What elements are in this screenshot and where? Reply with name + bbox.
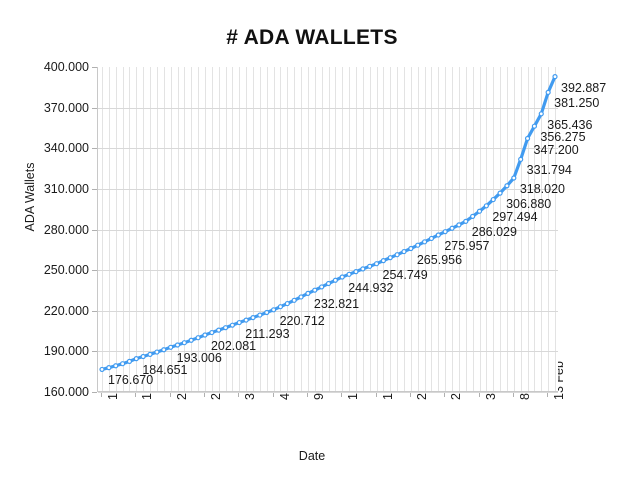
y-tick-mark (92, 392, 97, 393)
data-point-marker (155, 350, 159, 354)
data-point-label: 381.250 (554, 96, 599, 110)
data-point-marker (251, 316, 255, 320)
y-tick-label: 160.000 (21, 385, 89, 399)
data-point-marker (320, 285, 324, 289)
data-point-label: 244.932 (348, 281, 393, 295)
data-point-label: 220.712 (280, 314, 325, 328)
y-tick-label: 340.000 (21, 141, 89, 155)
data-point-marker (354, 270, 358, 274)
data-point-marker (107, 366, 111, 370)
data-point-label: 306.880 (506, 197, 551, 211)
data-point-marker (361, 267, 365, 271)
data-point-marker (327, 282, 331, 286)
y-tick-label: 280.000 (21, 223, 89, 237)
data-point-marker (526, 137, 530, 141)
data-point-marker (244, 318, 248, 322)
data-point-marker (272, 308, 276, 312)
data-point-marker (395, 253, 399, 257)
data-point-marker (539, 112, 543, 116)
data-point-marker (100, 367, 104, 371)
data-point-marker (416, 243, 420, 247)
data-point-marker (546, 90, 550, 94)
data-point-marker (368, 264, 372, 268)
data-point-marker (292, 298, 296, 302)
data-point-label: 254.749 (383, 268, 428, 282)
x-axis-title: Date (0, 449, 624, 463)
data-point-label: 265.956 (417, 253, 462, 267)
data-point-marker (478, 209, 482, 213)
y-tick-label: 250.000 (21, 263, 89, 277)
x-tick-mark (547, 392, 548, 397)
x-tick-mark (410, 392, 411, 397)
data-point-label: 232.821 (314, 297, 359, 311)
data-point-marker (189, 338, 193, 342)
data-point-marker (484, 204, 488, 208)
data-point-marker (313, 288, 317, 292)
data-point-marker (436, 233, 440, 237)
data-point-marker (217, 328, 221, 332)
data-point-marker (498, 191, 502, 195)
data-point-marker (278, 305, 282, 309)
data-point-label: 286.029 (472, 225, 517, 239)
data-point-marker (340, 275, 344, 279)
data-point-marker (306, 291, 310, 295)
ada-wallets-chart: # ADA WALLETS ADA Wallets 400.000370.000… (0, 0, 624, 477)
x-tick-mark (444, 392, 445, 397)
x-tick-mark (479, 392, 480, 397)
y-tick-label: 190.000 (21, 344, 89, 358)
data-point-marker (505, 184, 509, 188)
data-point-label: 211.293 (245, 327, 289, 341)
data-point-marker (141, 355, 145, 359)
data-point-marker (375, 262, 379, 266)
data-point-marker (532, 124, 536, 128)
data-point-label: 193.006 (177, 351, 222, 365)
data-point-label: 365.436 (547, 118, 592, 132)
data-point-marker (333, 278, 337, 282)
data-point-marker (121, 362, 125, 366)
data-point-marker (491, 198, 495, 202)
data-point-marker (423, 240, 427, 244)
data-point-marker (134, 357, 138, 361)
data-point-marker (464, 219, 468, 223)
data-point-marker (258, 313, 262, 317)
data-point-marker (114, 364, 118, 368)
x-tick-mark (204, 392, 205, 397)
data-point-marker (429, 236, 433, 240)
data-point-marker (148, 352, 152, 356)
x-tick-mark (341, 392, 342, 397)
data-point-marker (182, 341, 186, 345)
x-tick-mark (101, 392, 102, 397)
data-point-marker (381, 259, 385, 263)
x-tick-mark (170, 392, 171, 397)
x-tick-mark (238, 392, 239, 397)
data-point-marker (210, 331, 214, 335)
data-point-label: 331.794 (527, 163, 572, 177)
data-point-marker (237, 321, 241, 325)
data-point-marker (230, 323, 234, 327)
data-point-marker (388, 256, 392, 260)
data-point-marker (299, 295, 303, 299)
data-point-marker (471, 214, 475, 218)
data-point-label: 275.957 (444, 239, 489, 253)
data-point-label: 356.275 (540, 130, 585, 144)
y-tick-label: 370.000 (21, 101, 89, 115)
data-point-marker (127, 359, 131, 363)
data-point-marker (176, 343, 180, 347)
data-point-marker (347, 272, 351, 276)
x-tick-mark (513, 392, 514, 397)
series-line (102, 77, 555, 370)
data-point-marker (402, 250, 406, 254)
data-point-marker (443, 230, 447, 234)
chart-title: # ADA WALLETS (0, 26, 624, 50)
x-tick-mark (376, 392, 377, 397)
x-tick-mark (273, 392, 274, 397)
data-point-marker (169, 345, 173, 349)
data-point-marker (285, 302, 289, 306)
data-point-label: 392.887 (561, 81, 606, 95)
data-point-label: 297.494 (492, 210, 537, 224)
data-point-marker (203, 333, 207, 337)
data-point-marker (409, 247, 413, 251)
y-tick-label: 310.000 (21, 182, 89, 196)
data-point-marker (457, 223, 461, 227)
data-point-label: 318.020 (520, 182, 565, 196)
data-point-label: 202.081 (211, 339, 256, 353)
data-point-marker (450, 226, 454, 230)
data-point-marker (162, 348, 166, 352)
data-point-marker (265, 311, 269, 315)
data-point-marker (553, 75, 557, 79)
data-point-marker (224, 326, 228, 330)
data-point-marker (512, 176, 516, 180)
data-point-marker (196, 336, 200, 340)
data-point-label: 347.200 (534, 143, 579, 157)
data-point-marker (519, 157, 523, 161)
x-tick-mark (307, 392, 308, 397)
x-tick-mark (135, 392, 136, 397)
y-tick-label: 400.000 (21, 60, 89, 74)
y-tick-label: 220.000 (21, 304, 89, 318)
